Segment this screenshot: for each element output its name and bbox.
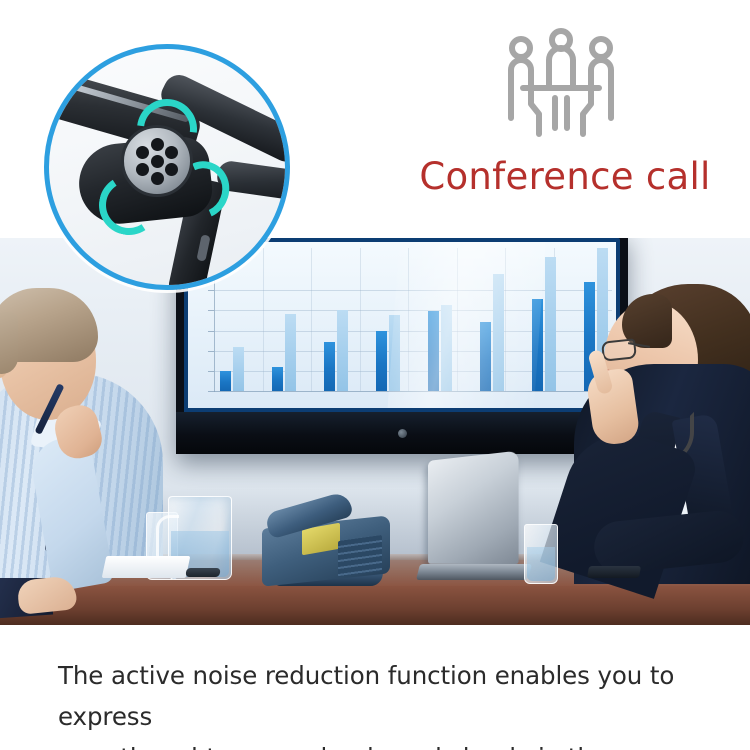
- chart-bar: [428, 311, 439, 391]
- chart-bar-group: [272, 248, 296, 391]
- three-people-conference-icon: [497, 26, 625, 142]
- chart-bars: [220, 248, 608, 391]
- footer-section: The active noise reduction function enab…: [0, 625, 750, 750]
- chart-bar: [324, 342, 335, 391]
- woman-glasses: [602, 340, 644, 356]
- laptop-lid: [428, 451, 519, 565]
- chart-bar-group: [376, 248, 400, 391]
- chart-bar: [532, 299, 543, 391]
- chart-bar: [285, 314, 296, 391]
- water-glass-right: [524, 524, 558, 584]
- chart-bar-group: [428, 248, 452, 391]
- marker: [185, 568, 220, 577]
- microphone-hole: [151, 172, 164, 185]
- caption-line-2: your thoughts more clearly and clearly i…: [58, 737, 708, 750]
- microphone-grille: [121, 125, 193, 197]
- chart-bar: [233, 347, 244, 391]
- man-hair-side: [0, 312, 18, 374]
- microphone-hole: [151, 138, 164, 151]
- page-title: Conference call: [400, 155, 730, 199]
- chart-y-tick: [208, 310, 214, 311]
- chart-bar: [389, 315, 400, 391]
- chart-bar: [493, 274, 504, 391]
- chart-bar: [337, 310, 348, 392]
- microphone-hole: [165, 146, 178, 159]
- microphone-hole: [165, 163, 178, 176]
- microphone-hole: [151, 155, 164, 168]
- chart-y-tick: [208, 351, 214, 352]
- glass-water: [527, 547, 555, 581]
- bar-chart: [188, 242, 616, 408]
- chart-bar: [220, 371, 231, 391]
- mobile-phone: [587, 566, 641, 578]
- phone-keypad: [338, 535, 382, 577]
- product-banner: Conference call: [0, 0, 750, 750]
- laptop: [418, 456, 530, 580]
- microphone-hole: [136, 146, 149, 159]
- conference-room-photo: [0, 238, 750, 625]
- chart-y-tick: [208, 290, 214, 291]
- chart-bar-group: [324, 248, 348, 391]
- microphone-closeup-callout: [44, 44, 290, 290]
- chart-bar-group: [480, 248, 504, 391]
- chart-bar: [480, 322, 491, 391]
- chart-gridline: [214, 391, 612, 392]
- chart-plot-area: [214, 248, 612, 392]
- chart-bar: [272, 367, 283, 391]
- notepad: [102, 556, 191, 578]
- woman-right: [554, 284, 750, 584]
- chart-y-tick: [208, 391, 214, 392]
- chart-y-tick: [208, 371, 214, 372]
- microphone-hole: [136, 163, 149, 176]
- chart-bar: [376, 331, 387, 391]
- chart-bar-group: [532, 248, 556, 391]
- caption-line-1: The active noise reduction function enab…: [58, 655, 708, 737]
- caption-text: The active noise reduction function enab…: [58, 655, 708, 750]
- display-screen: [188, 242, 616, 408]
- display-power-led: [398, 429, 407, 438]
- laptop-base: [416, 564, 532, 580]
- conference-desk-phone: [262, 500, 390, 580]
- chart-bar: [441, 305, 452, 391]
- chart-y-tick: [208, 331, 214, 332]
